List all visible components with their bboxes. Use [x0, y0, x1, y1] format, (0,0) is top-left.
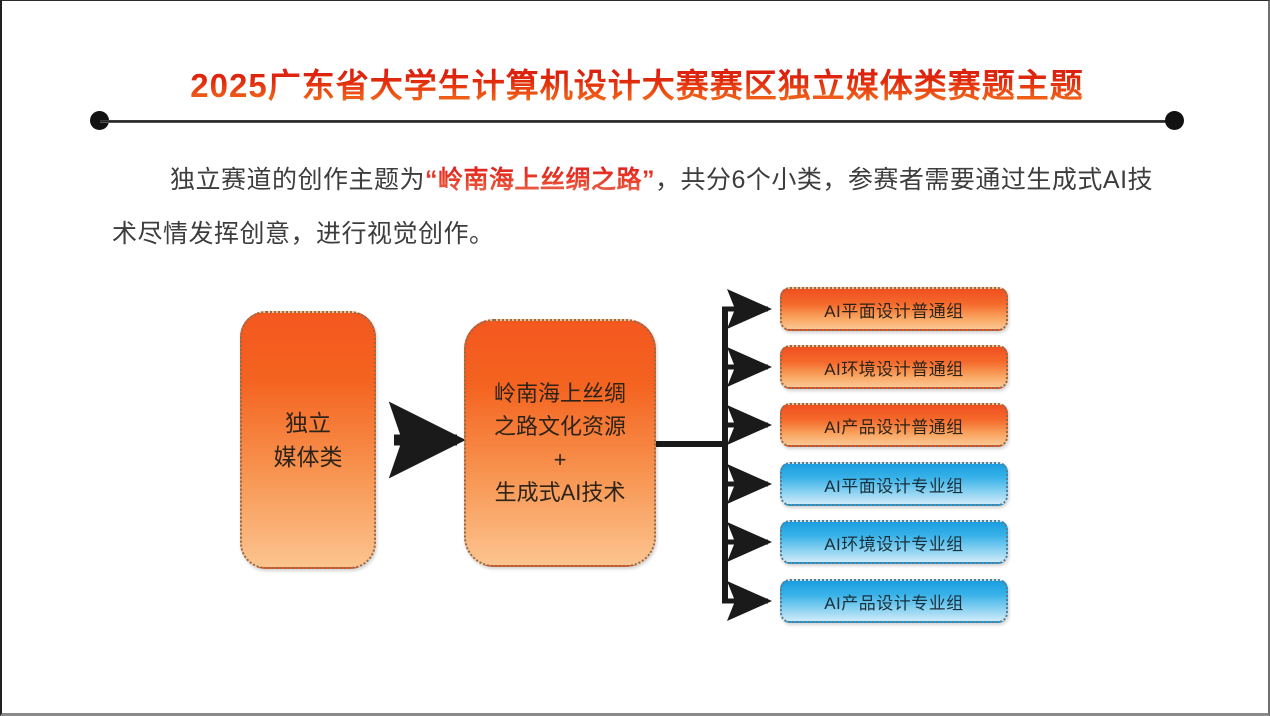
- category-ai-environment-design-general[interactable]: AI环境设计普通组: [780, 345, 1008, 389]
- category-ai-product-design-professional[interactable]: AI产品设计专业组: [780, 579, 1008, 623]
- category-ai-graphic-design-professional[interactable]: AI平面设计专业组: [780, 462, 1008, 506]
- node-media-line-1: 独立: [274, 406, 343, 440]
- category-label: AI环境设计专业组: [824, 530, 964, 555]
- node-independent-media[interactable]: 独立 媒体类: [240, 311, 376, 569]
- node-theme-line-1: 岭南海上丝绸: [494, 377, 626, 410]
- node-theme-text: 岭南海上丝绸 之路文化资源 + 生成式AI技术: [494, 377, 626, 509]
- flow-diagram: 独立 媒体类 岭南海上丝绸 之路文化资源 + 生成式AI技术 AI平面设计普通组…: [2, 1, 1270, 716]
- category-label: AI产品设计普通组: [824, 413, 964, 438]
- category-ai-environment-design-professional[interactable]: AI环境设计专业组: [780, 520, 1008, 564]
- category-label: AI产品设计专业组: [824, 589, 964, 614]
- node-theme-plus-sign: +: [494, 443, 626, 476]
- category-label: AI平面设计普通组: [824, 297, 964, 322]
- node-theme-line-2: 之路文化资源: [494, 410, 626, 443]
- node-theme-line-4: 生成式AI技术: [494, 476, 626, 509]
- node-media-line-2: 媒体类: [274, 440, 343, 474]
- category-label: AI平面设计专业组: [824, 472, 964, 497]
- category-label: AI环境设计普通组: [824, 355, 964, 380]
- category-ai-product-design-general[interactable]: AI产品设计普通组: [780, 403, 1008, 447]
- node-independent-media-text: 独立 媒体类: [274, 406, 343, 474]
- category-ai-graphic-design-general[interactable]: AI平面设计普通组: [780, 287, 1008, 331]
- slide-canvas: 2025广东省大学生计算机设计大赛赛区独立媒体类赛题主题 独立赛道的创作主题为“…: [0, 0, 1270, 716]
- node-theme-plus-ai[interactable]: 岭南海上丝绸 之路文化资源 + 生成式AI技术: [464, 319, 656, 567]
